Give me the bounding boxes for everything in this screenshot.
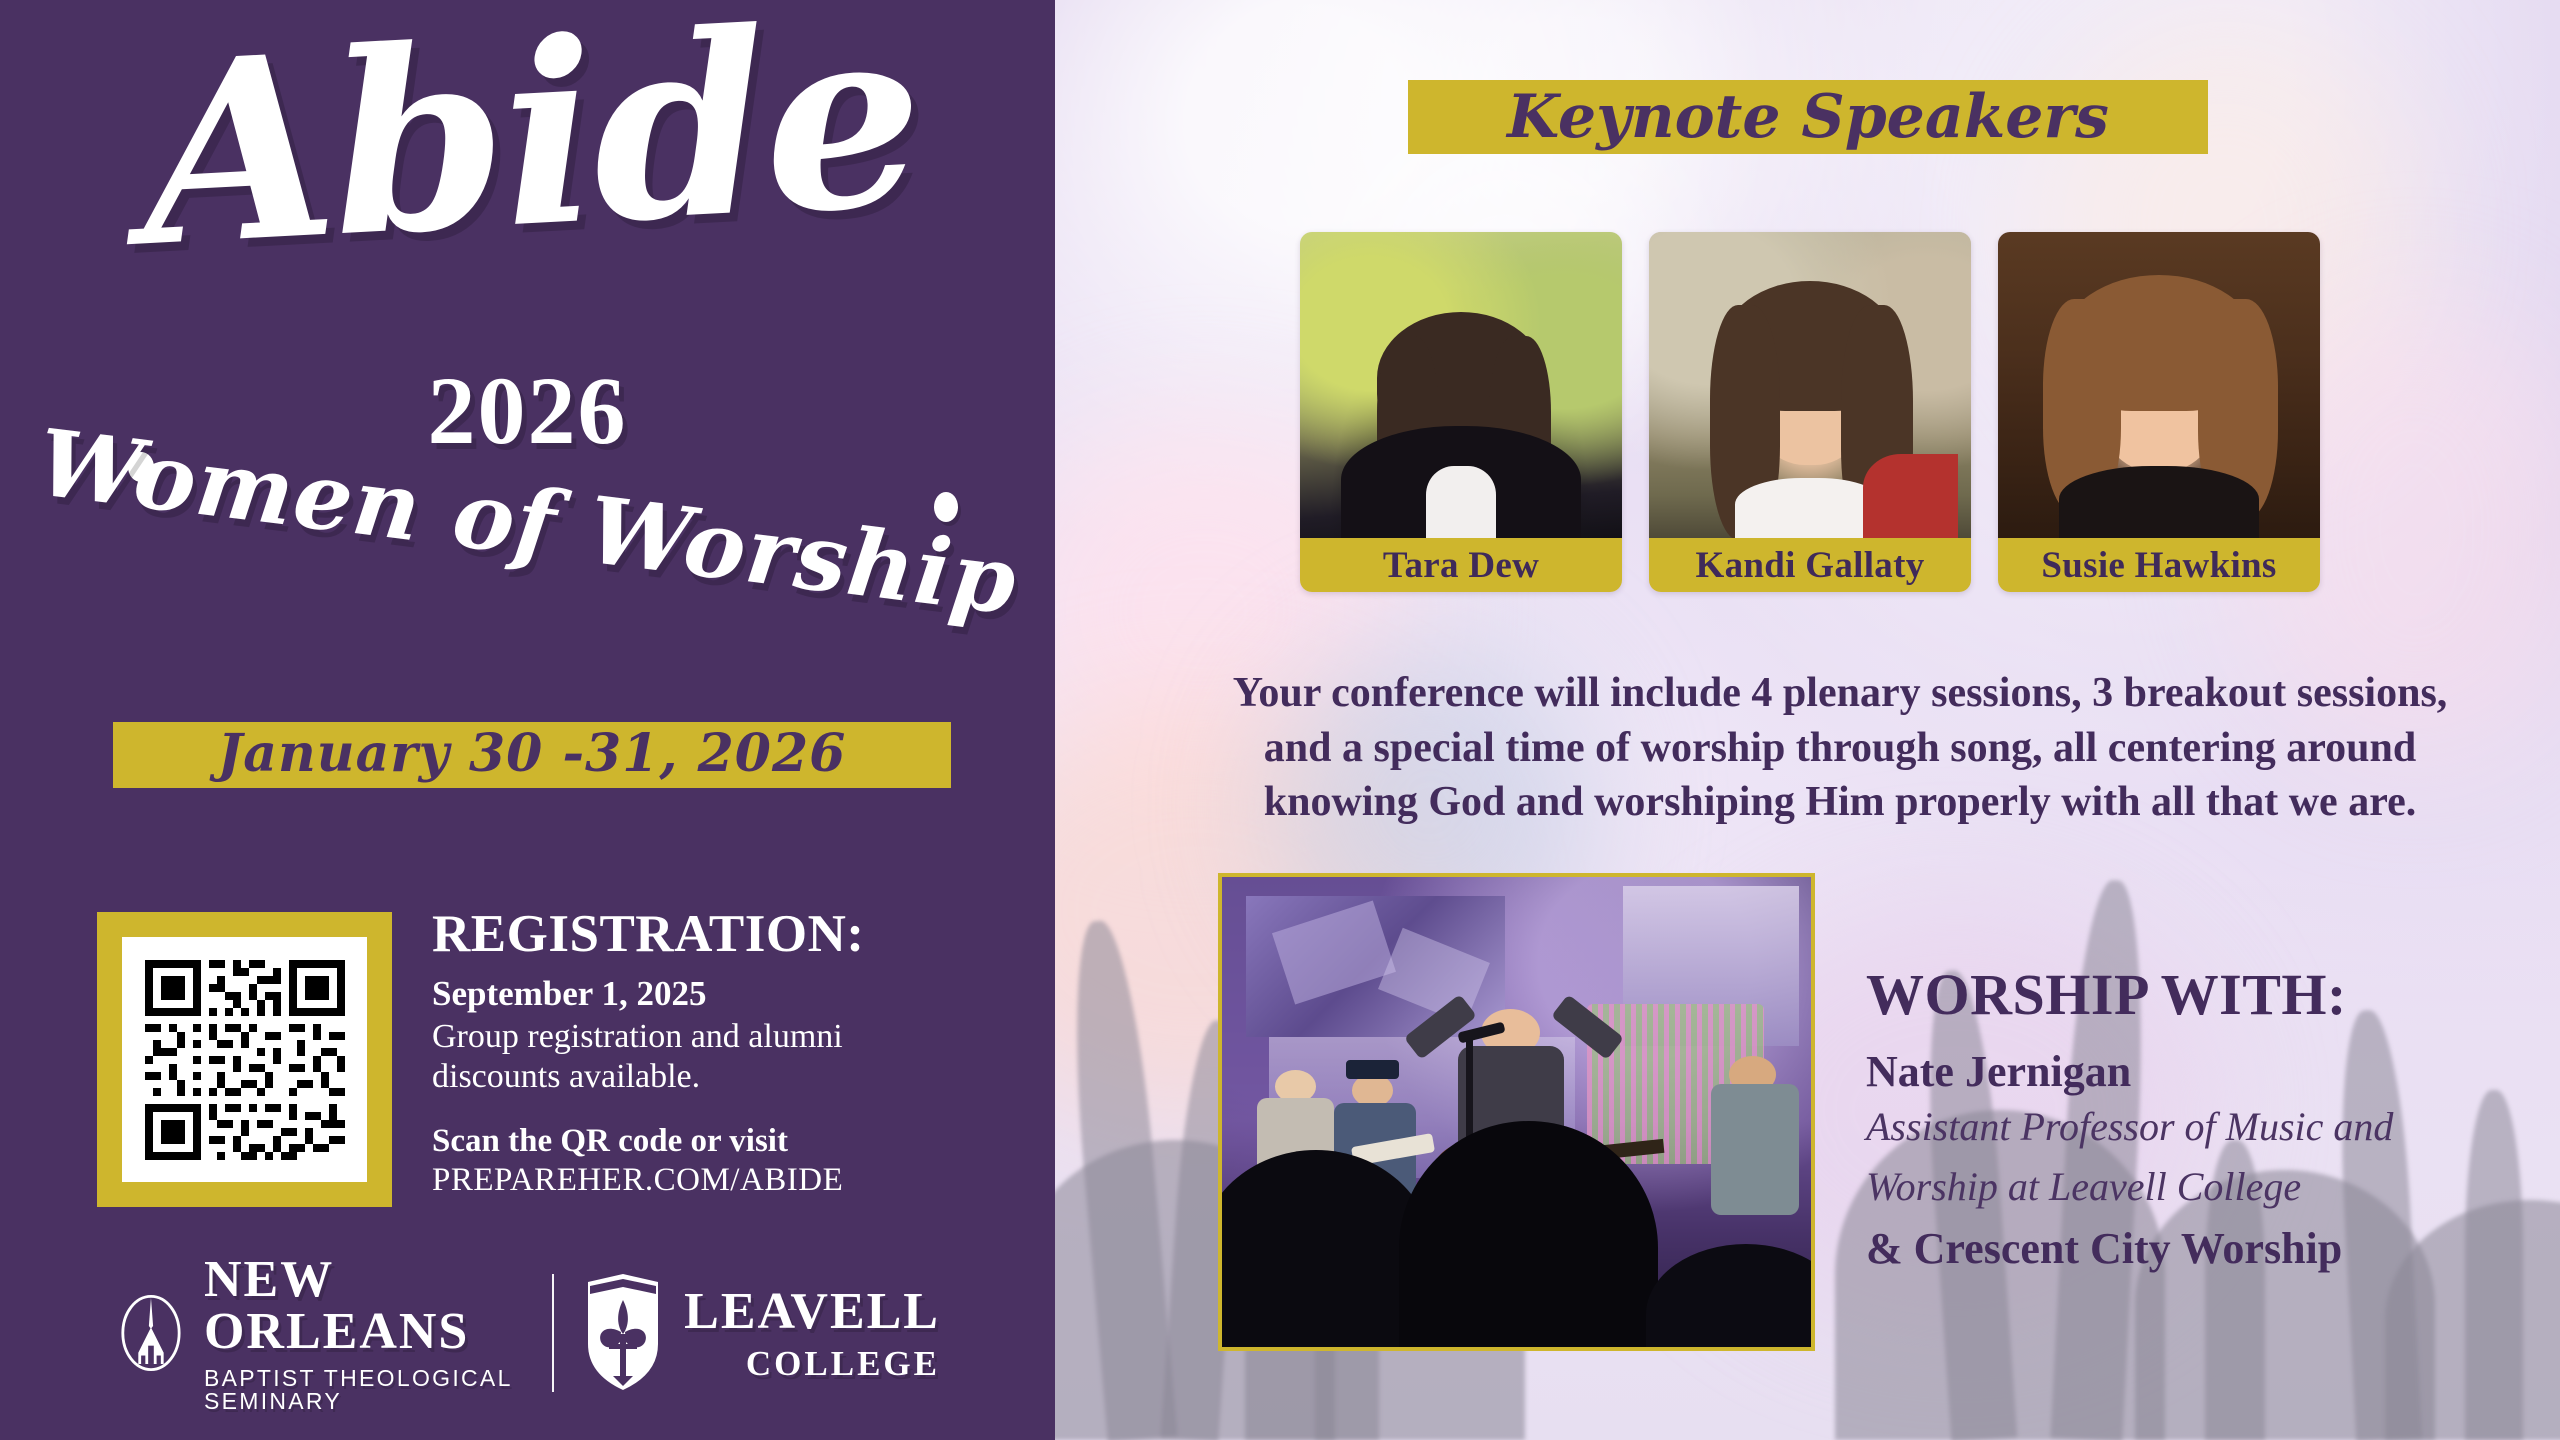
worship-leader-title-line1: Assistant Professor of Music and: [1866, 1097, 2526, 1157]
registration-block: REGISTRATION: September 1, 2025 Group re…: [432, 908, 1012, 1201]
date-banner-text: January 30 -31, 2026: [218, 723, 847, 784]
conference-description-line1: Your conference will include 4 plenary s…: [1140, 666, 2540, 721]
logo-leavell-college: LEAVELL COLLEGE: [582, 1274, 940, 1392]
left-purple-panel: Abide 2026 Women of Worship January 30 -…: [0, 0, 1055, 1440]
leavell-name-line2: COLLEGE: [684, 1346, 940, 1381]
qr-code-icon[interactable]: [145, 960, 345, 1160]
worship-band-stage-photo: [1218, 873, 1815, 1351]
qr-code-frame[interactable]: [97, 912, 392, 1207]
logo-new-orleans-baptist-theological-seminary: NEW ORLEANS BAPTIST THEOLOGICAL SEMINARY: [120, 1254, 524, 1413]
conference-description-line2: and a special time of worship through so…: [1140, 721, 2540, 776]
worship-band-name: & Crescent City Worship: [1866, 1223, 2526, 1276]
speaker-name-strip: Kandi Gallaty: [1649, 538, 1971, 592]
speaker-name-strip: Susie Hawkins: [1998, 538, 2320, 592]
speaker-card[interactable]: Tara Dew: [1300, 232, 1622, 592]
date-banner: January 30 -31, 2026: [113, 722, 951, 788]
leavell-shield-fleur-de-lis-icon: [582, 1274, 664, 1392]
tagline-group: Women of Worship: [0, 432, 1055, 662]
speaker-portrait-photo: [1300, 232, 1622, 538]
registration-heading: REGISTRATION:: [432, 908, 1012, 961]
speaker-portrait-photo: [1649, 232, 1971, 538]
speaker-name: Tara Dew: [1383, 544, 1539, 587]
registration-url[interactable]: PREPAREHER.COM/ABIDE: [432, 1161, 1012, 1201]
speaker-portrait-photo: [1998, 232, 2320, 538]
nobts-name-line2: BAPTIST THEOLOGICAL SEMINARY: [204, 1367, 524, 1413]
registration-scan-line: Scan the QR code or visit: [432, 1122, 1012, 1162]
speaker-name: Kandi Gallaty: [1695, 544, 1924, 587]
speaker-card[interactable]: Susie Hawkins: [1998, 232, 2320, 592]
institution-logos: NEW ORLEANS BAPTIST THEOLOGICAL SEMINARY: [120, 1268, 940, 1398]
keynote-speakers-heading: Keynote Speakers: [1507, 82, 2109, 152]
speaker-card[interactable]: Kandi Gallaty: [1649, 232, 1971, 592]
logo-divider: [552, 1274, 554, 1392]
abide-wordmark: Abide: [34, 0, 1026, 285]
speaker-name-strip: Tara Dew: [1300, 538, 1622, 592]
leavell-name-line1: LEAVELL: [684, 1286, 940, 1338]
tagline: Women of Worship: [0, 404, 1058, 640]
conference-description: Your conference will include 4 plenary s…: [1140, 666, 2540, 830]
conference-description-line3: knowing God and worshiping Him properly …: [1140, 775, 2540, 830]
abide-2026-conference-poster: Abide 2026 Women of Worship January 30 -…: [0, 0, 2560, 1440]
registration-note-line2: discounts available.: [432, 1057, 1012, 1097]
nobts-name-line1: NEW ORLEANS: [204, 1254, 524, 1358]
worship-leader-name: Nate Jernigan: [1866, 1046, 2526, 1097]
qr-code-quiet-zone: [122, 937, 367, 1182]
nobts-steeple-icon: [120, 1277, 182, 1389]
registration-note-line1: Group registration and alumni: [432, 1017, 1012, 1057]
speaker-name: Susie Hawkins: [2041, 544, 2276, 587]
keynote-speakers-banner: Keynote Speakers: [1408, 80, 2208, 154]
keynote-speakers-list: Tara Dew Kandi Gallaty: [1300, 232, 2320, 592]
registration-open-date: September 1, 2025: [432, 973, 1012, 1014]
worship-leader-title-line2: Worship at Leavell College: [1866, 1157, 2526, 1217]
worship-with-heading: WORSHIP WITH:: [1866, 966, 2526, 1024]
worship-with-block: WORSHIP WITH: Nate Jernigan Assistant Pr…: [1866, 966, 2526, 1276]
